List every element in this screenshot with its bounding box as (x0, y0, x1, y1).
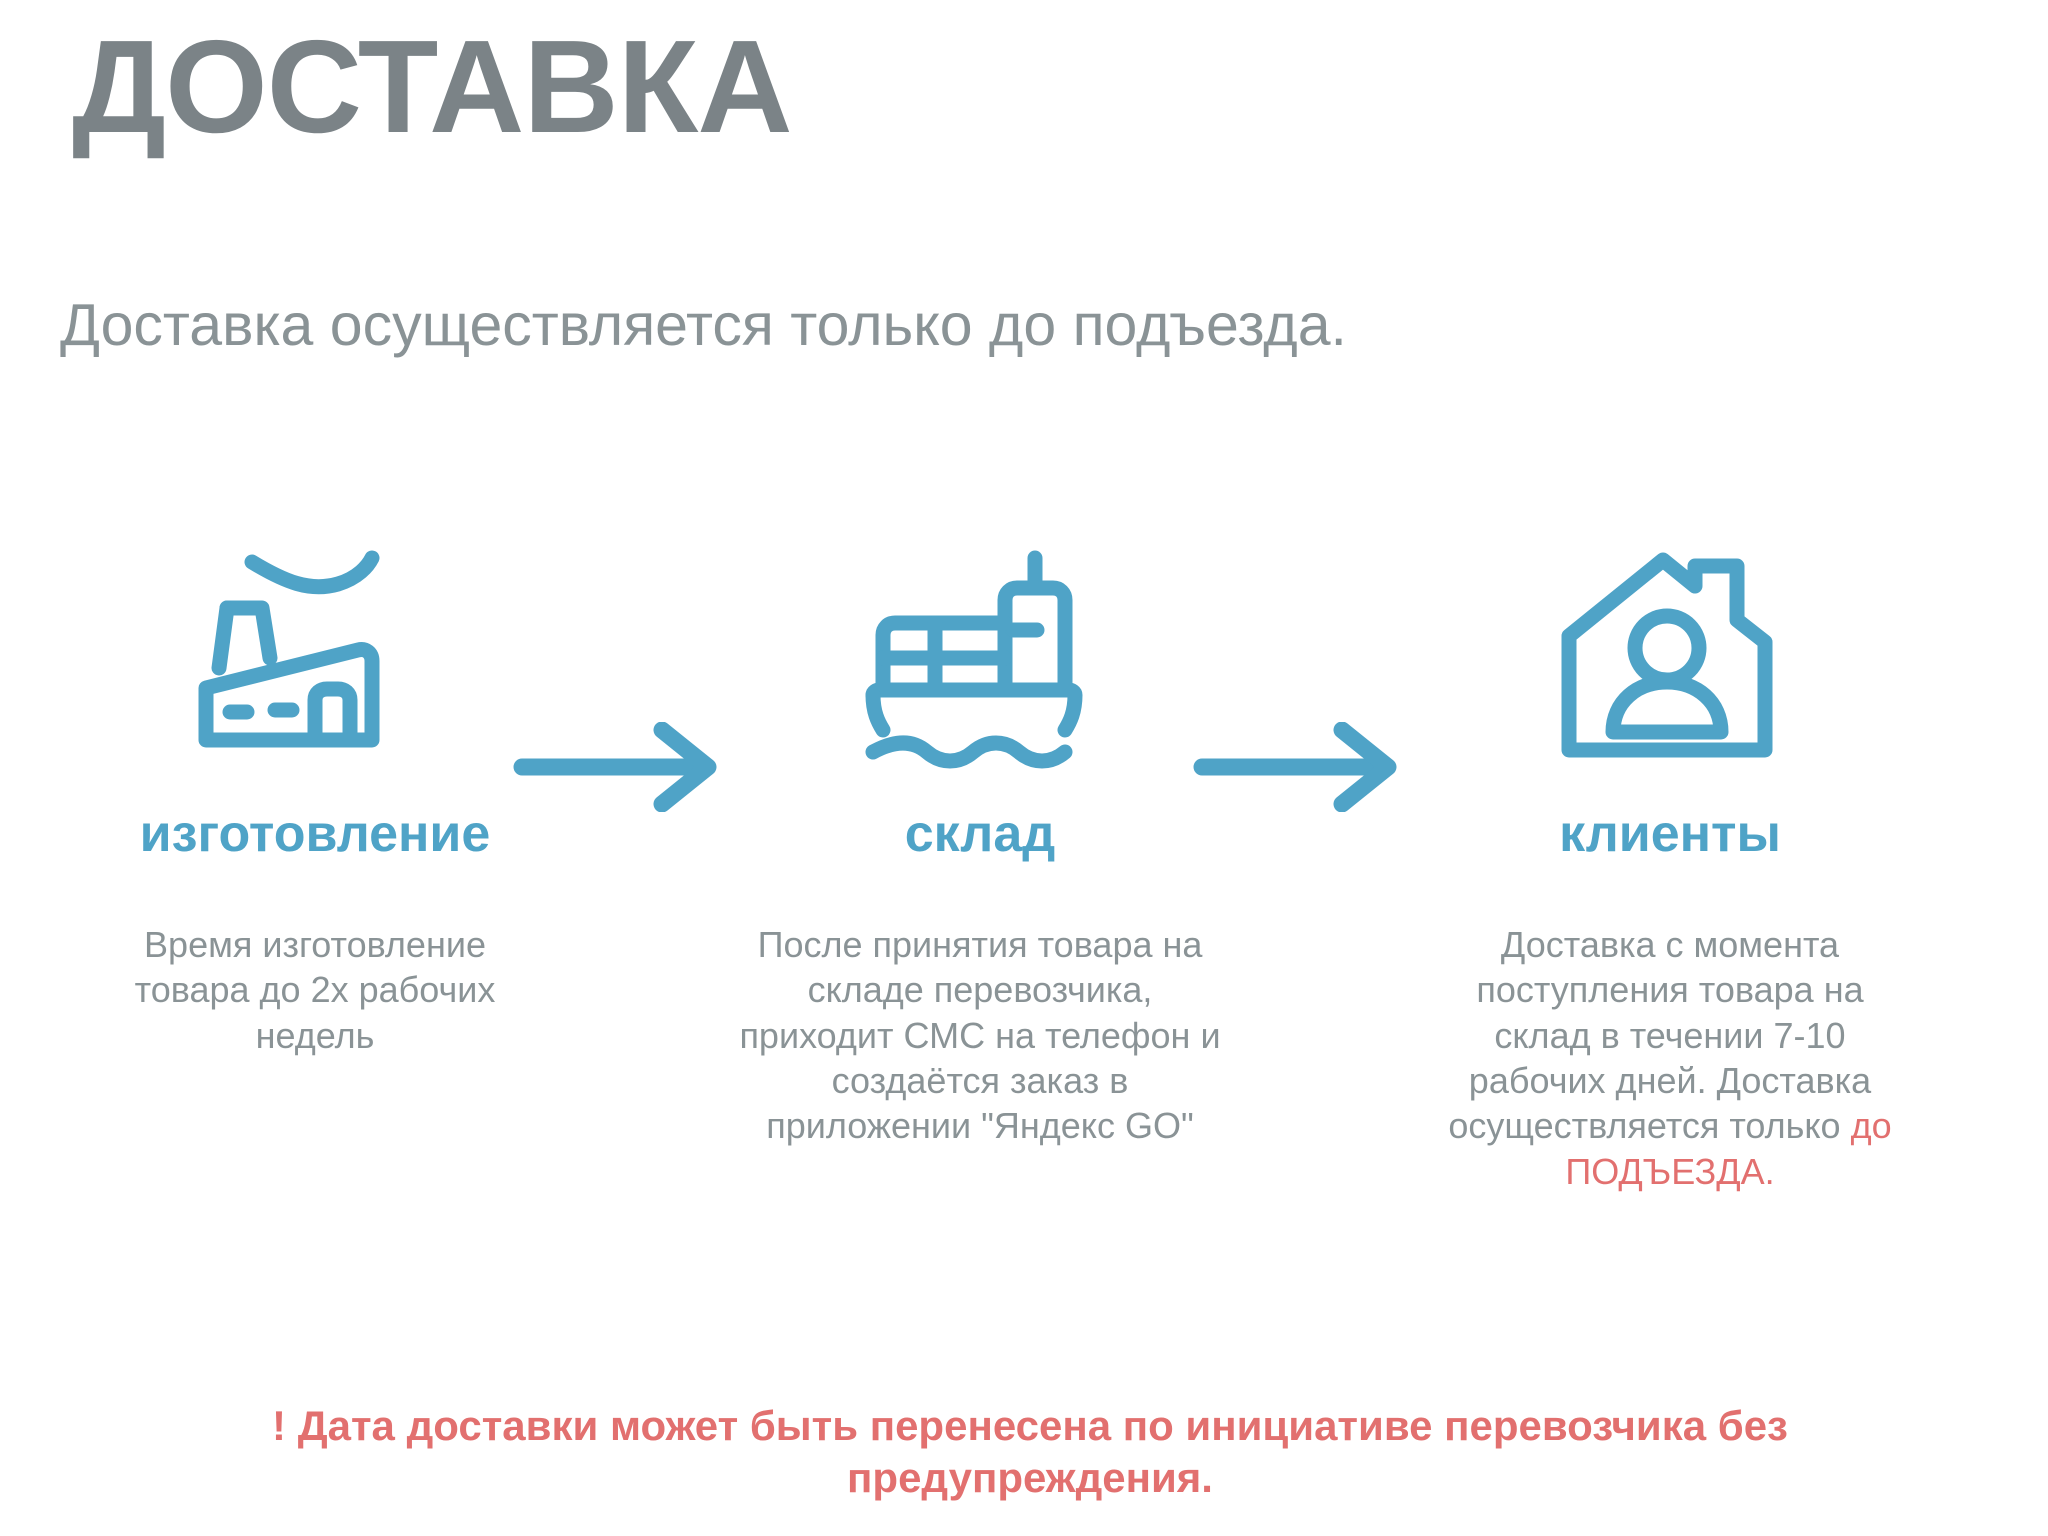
house-person-icon (1390, 540, 1950, 770)
stage-description-clients: Доставка с момента поступления товара на… (1390, 922, 1950, 1194)
stage-label-manufacturing: изготовление (35, 808, 595, 860)
footer-warning-note: ! Дата доставки может быть перенесена по… (150, 1400, 1910, 1504)
flow-stage-warehouse: склад После принятия товара на складе пе… (700, 540, 1260, 1149)
stage-description-clients-plain: Доставка с момента поступления товара на… (1448, 924, 1871, 1146)
stage-description-manufacturing: Время изготовление товара до 2х рабочих … (35, 922, 595, 1058)
stage-label-warehouse: склад (700, 808, 1260, 860)
stage-label-clients: клиенты (1390, 808, 1950, 860)
page-title: ДОСТАВКА (72, 18, 792, 157)
flow-stage-clients: клиенты Доставка с момента поступления т… (1390, 540, 1950, 1194)
page-subtitle: Доставка осуществляется только до подъез… (60, 290, 1360, 362)
arrow-right-icon-1 (510, 722, 730, 812)
delivery-info-slide: ДОСТАВКА Доставка осуществляется только … (0, 0, 2048, 1536)
arrow-right-icon-2 (1190, 722, 1410, 812)
stage-description-warehouse: После принятия товара на складе перевозч… (700, 922, 1260, 1149)
cargo-ship-icon (700, 540, 1260, 770)
